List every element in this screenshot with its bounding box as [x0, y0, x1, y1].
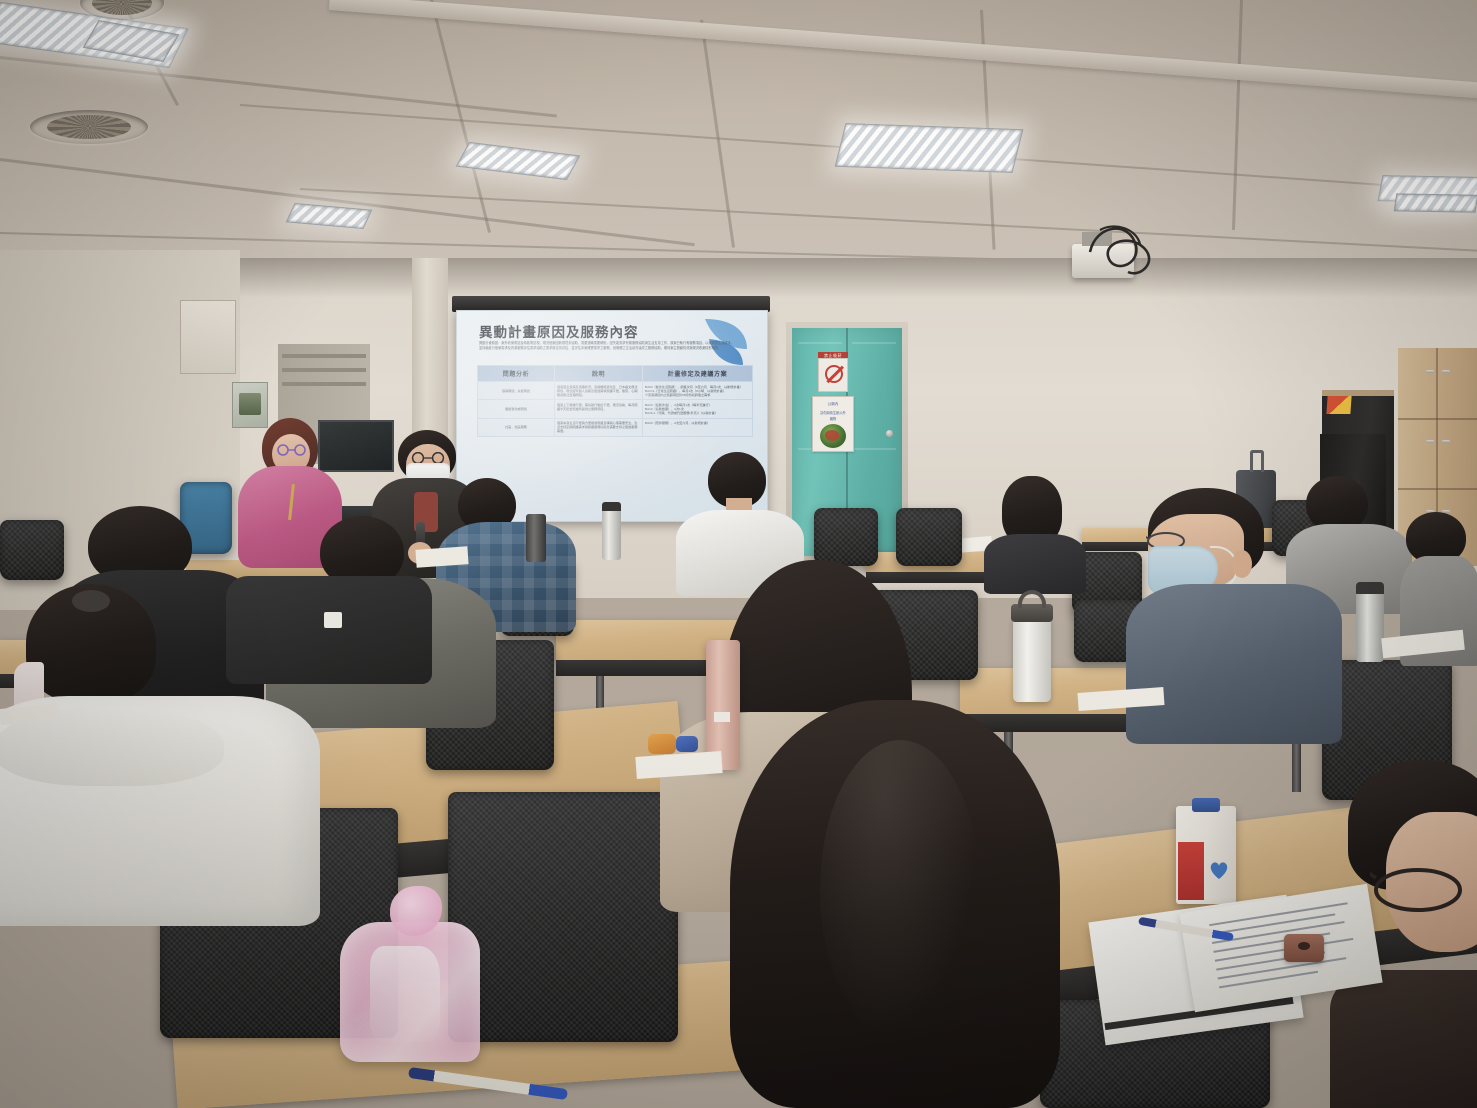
stainless-steel-bottle: [602, 508, 621, 560]
door-handle[interactable]: [886, 430, 893, 437]
cell-plan: BA20（陪伴服務），2次至六月，以新增計畫）: [643, 418, 753, 436]
pink-tied-plastic-bag: [336, 886, 484, 1062]
cell-description: 個案上下樓梯不便，需協助行動出不便，現況協助，每月照護半天配合家屬所提供之服務項…: [555, 400, 643, 418]
notice-illustration: [820, 424, 846, 448]
torso: [984, 534, 1086, 594]
slide-col-header-2: 說明: [555, 366, 643, 382]
cell-description: 個案本身生活不便與方便關懷照護且轉與心理需要安全、生活支持定期照護需求與照護服務…: [555, 418, 643, 436]
torso: [1126, 584, 1342, 744]
bottle-cap: [602, 502, 621, 511]
hair-tie: [72, 590, 110, 612]
pink-tumbler: [706, 640, 740, 770]
white-insulated-bottle: [1013, 616, 1051, 702]
office-chair[interactable]: [896, 508, 962, 566]
slide-col-header-3: 計畫修定及建議方案: [643, 366, 753, 382]
conference-room-photo: 異動計畫原因及服務內容 異動計畫原因：案外收案電話及時致電訪視，現況個案因新環境…: [0, 0, 1477, 1108]
hair-highlight: [820, 740, 980, 1040]
attendee-center-long-hair: [700, 700, 1120, 1108]
cell-problem: 社區．社區服務: [478, 418, 555, 436]
notice-line-1: 請勿將衛生紙以外: [813, 410, 853, 415]
slide-table: 問題分析 說明 計畫修定及建議方案 疾病問題．失能問題 個案因患疾病及用藥狀況，…: [477, 365, 753, 437]
documents-near-presenter: [415, 546, 468, 568]
carton-cap: [1192, 798, 1220, 812]
ceiling-light-panel: [1394, 193, 1477, 212]
tumbler-label: [714, 712, 730, 722]
bag-highlight: [370, 946, 440, 1042]
slide-col-header-1: 問題分析: [478, 366, 555, 382]
stainless-steel-bottle: [1356, 590, 1384, 662]
slide-table-row: 關節退化或問題 個案上下樓梯不便，需協助行動出不便，現況協助，每月照護半天配合家…: [478, 400, 753, 418]
eyeglasses-icon: [272, 444, 312, 456]
notice-title: 公廁內: [813, 402, 853, 407]
cell-description: 個案因患疾病及用藥狀況，身體機能退化且．日本語文無法辨別，現況認可個人協助及復健…: [555, 382, 643, 400]
cell-problem: 關節退化或問題: [478, 400, 555, 418]
torso: [1330, 970, 1477, 1108]
slide-title: 異動計畫原因及服務內容: [479, 321, 639, 341]
ceiling-light-panel: [286, 203, 373, 229]
no-smoking-icon: [818, 358, 848, 392]
ceiling-light-panel: [835, 123, 1024, 173]
warning-sticker: [1326, 396, 1351, 414]
ceiling-air-vent: [30, 110, 148, 144]
cell-problem: 疾病問題．失能問題: [478, 382, 555, 400]
slide-table-row: 疾病問題．失能問題 個案因患疾病及用藥狀況，身體機能退化且．日本語文無法辨別，現…: [478, 382, 753, 400]
eyeglasses-icon: [1370, 864, 1477, 918]
bottle-cap: [1356, 582, 1384, 594]
attendee-reading-documents: [980, 476, 1086, 588]
backpack-tag: [324, 612, 342, 628]
ear: [1232, 550, 1252, 578]
dark-thermos-bottle: [526, 514, 546, 562]
slide-table-header-row: 問題分析 說明 計畫修定及建議方案: [478, 366, 753, 382]
small-blue-item: [676, 736, 698, 752]
slide-table-row: 社區．社區服務 個案本身生活不便與方便關懷照護且轉與心理需要安全、生活支持定期照…: [478, 418, 753, 436]
black-backpack: [226, 576, 432, 684]
cell-plan: BA03（餐食生活照顧），調整次月（9至六月．每月1次．以新增計畫） BA17a…: [643, 382, 753, 400]
carton-red-panel: [1178, 842, 1204, 900]
notice-line-2: 雜物: [813, 416, 853, 421]
suitcase-handle-icon: [1250, 450, 1264, 472]
projector-cables-icon: [1078, 222, 1168, 282]
small-orange-snack: [648, 734, 676, 754]
cell-plan: BA13（協助沐浴），2次每月1次（每半天進行） BA14（協助餐服），2次1次…: [643, 400, 753, 418]
carton-blue-heart-icon: [1208, 860, 1230, 880]
back-window: [180, 300, 236, 374]
tape-roll-hole: [1298, 942, 1310, 950]
office-chair[interactable]: [814, 508, 878, 566]
slide-paragraph: 異動計畫原因：案外收案電話及時致電訪視，現況個案因新環境未協助，需要運輸需要轉銜…: [479, 341, 734, 350]
